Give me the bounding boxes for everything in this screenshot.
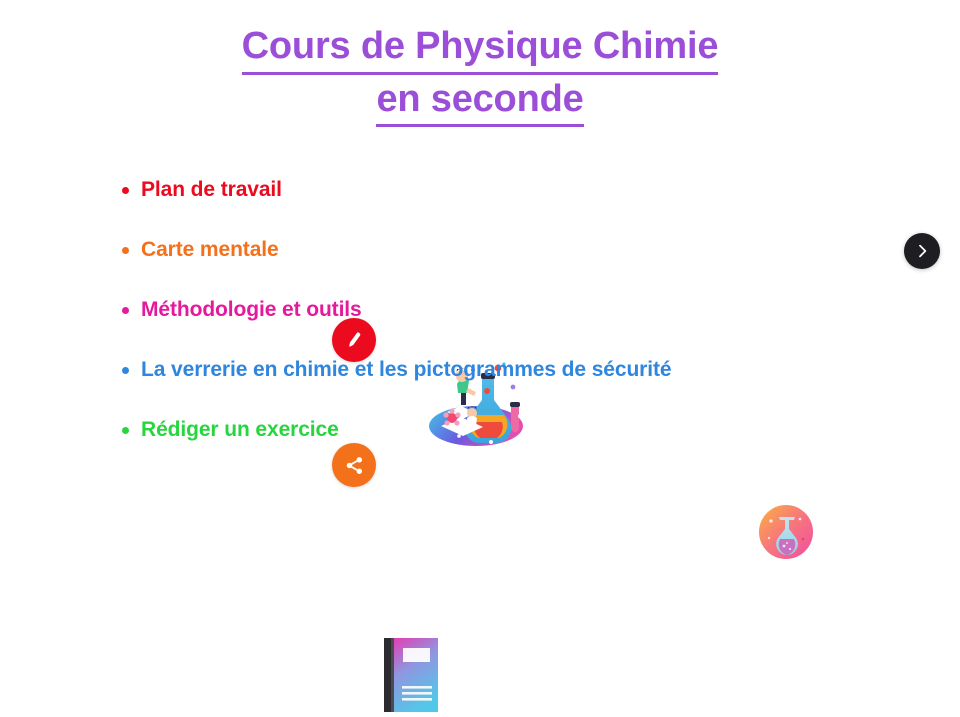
list-item[interactable]: Méthodologie et outils bbox=[122, 280, 882, 340]
bullet-marker bbox=[122, 307, 129, 314]
page-title-line-2: en seconde bbox=[376, 75, 583, 128]
next-slide-button[interactable] bbox=[904, 233, 940, 269]
slide-canvas: Cours de Physique Chimie en seconde Plan… bbox=[0, 0, 960, 540]
list-item-label: Carte mentale bbox=[141, 238, 279, 262]
list-item[interactable]: Rédiger un exercice bbox=[122, 400, 882, 460]
list-item[interactable]: La verrerie en chimie et les pictogramme… bbox=[122, 340, 882, 400]
bullet-marker bbox=[122, 367, 129, 374]
list-item-label: Plan de travail bbox=[141, 178, 282, 202]
page-title-line-1: Cours de Physique Chimie bbox=[242, 22, 719, 75]
bullet-marker bbox=[122, 187, 129, 194]
list-item-label: La verrerie en chimie et les pictogramme… bbox=[141, 358, 671, 382]
page-title: Cours de Physique Chimie en seconde bbox=[0, 22, 960, 127]
notebook-icon bbox=[382, 638, 440, 712]
bullet-marker bbox=[122, 247, 129, 254]
bullet-marker bbox=[122, 427, 129, 434]
list-item-label: Rédiger un exercice bbox=[141, 418, 339, 442]
list-item[interactable]: Plan de travail bbox=[122, 160, 882, 220]
flask-badge-icon bbox=[759, 505, 813, 559]
list-item-label: Méthodologie et outils bbox=[141, 298, 362, 322]
topics-list: Plan de travail Carte mentale bbox=[122, 160, 882, 460]
chevron-right-icon bbox=[914, 243, 930, 259]
list-item[interactable]: Carte mentale bbox=[122, 220, 882, 280]
